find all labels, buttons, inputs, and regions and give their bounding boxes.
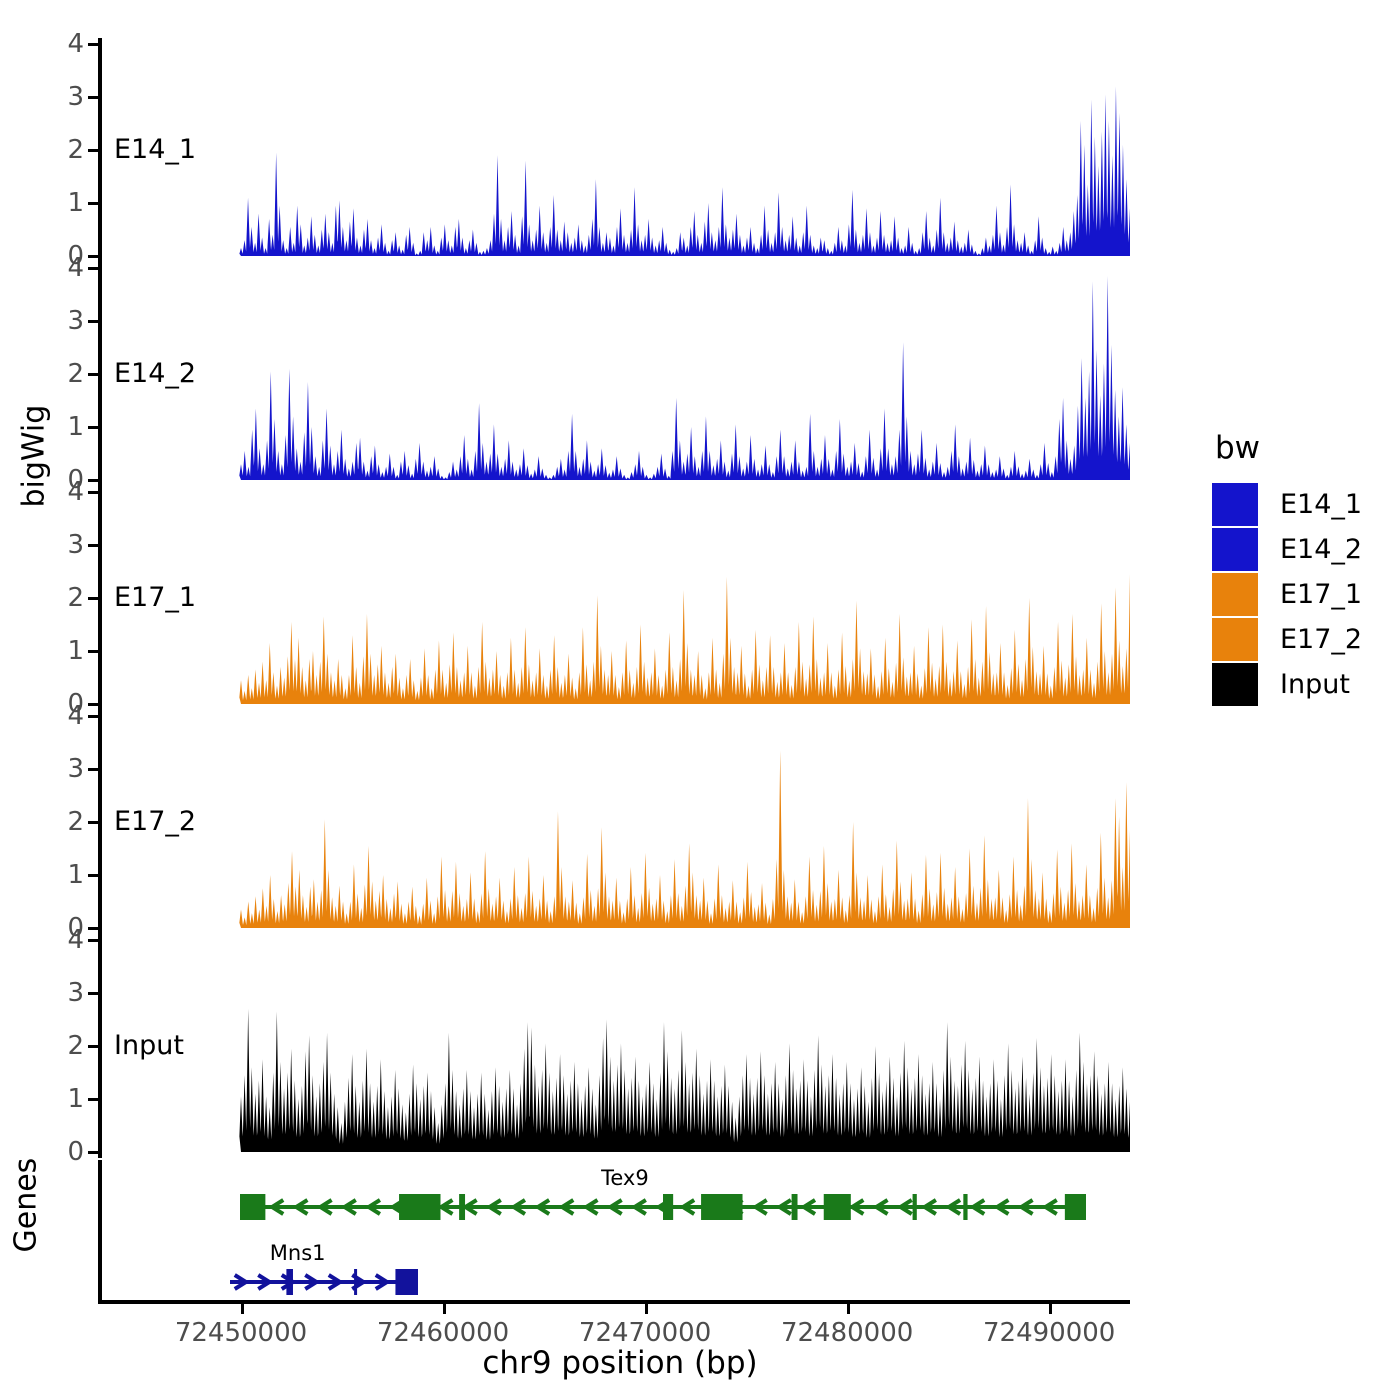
legend-label: Input: [1280, 669, 1350, 700]
gene-tex9[interactable]: [240, 1190, 1086, 1224]
y-tick: [88, 703, 98, 706]
legend-swatch: [1212, 663, 1258, 706]
y-tick-label: 3: [67, 978, 84, 1008]
track-panel-input: 01234Input: [98, 934, 1130, 1158]
legend: bw E14_1E14_2E17_1E17_2Input: [1212, 430, 1362, 707]
y-tick: [88, 267, 98, 270]
y-tick: [88, 1098, 98, 1101]
track-signal-e17_1: [102, 486, 1130, 710]
legend-item-e17_2[interactable]: E17_2: [1212, 617, 1362, 662]
y-tick: [88, 650, 98, 653]
y-tick-label: 1: [67, 860, 84, 890]
x-tick-label: 72460000: [377, 1318, 509, 1348]
gene-model-tex9: [240, 1190, 1086, 1224]
x-axis-line: [98, 1300, 1130, 1304]
x-tick: [1049, 1304, 1052, 1314]
track-plot-area: [102, 710, 1130, 934]
x-tick: [241, 1304, 244, 1314]
legend-swatch: [1212, 618, 1258, 661]
y-tick-label: 3: [67, 306, 84, 336]
x-tick-label: 72490000: [983, 1318, 1115, 1348]
y-tick-label: 2: [67, 807, 84, 837]
y-tick: [88, 1151, 98, 1154]
y-tick: [88, 597, 98, 600]
y-tick: [88, 43, 98, 46]
y-tick: [88, 821, 98, 824]
y-tick: [88, 874, 98, 877]
x-tick: [645, 1304, 648, 1314]
y-tick: [88, 479, 98, 482]
track-signal-e14_2: [102, 262, 1130, 486]
y-tick: [88, 149, 98, 152]
y-tick: [88, 255, 98, 258]
legend-item-input[interactable]: Input: [1212, 662, 1362, 707]
legend-title: bw: [1215, 430, 1362, 466]
x-tick: [443, 1304, 446, 1314]
legend-swatch: [1212, 573, 1258, 616]
legend-label: E17_1: [1280, 579, 1362, 610]
y-tick-label: 4: [67, 701, 84, 731]
legend-items: E14_1E14_2E17_1E17_2Input: [1212, 482, 1362, 707]
track-panel-e17_1: 01234E17_1: [98, 486, 1130, 710]
y-tick-label: 1: [67, 1084, 84, 1114]
x-tick-label: 72470000: [579, 1318, 711, 1348]
gene-model-mns1: [230, 1265, 418, 1299]
track-panel-e14_1: 01234E14_1: [98, 38, 1130, 262]
y-tick: [88, 202, 98, 205]
x-tick-label: 72450000: [175, 1318, 307, 1348]
track-plot-area: [102, 486, 1130, 710]
x-tick-label: 72480000: [781, 1318, 913, 1348]
legend-label: E14_2: [1280, 534, 1362, 565]
y-tick: [88, 96, 98, 99]
x-tick: [847, 1304, 850, 1314]
x-axis: 7245000072460000724700007248000072490000: [98, 1300, 1130, 1340]
y-tick-label: 3: [67, 754, 84, 784]
track-plot-area: [102, 262, 1130, 486]
legend-swatch: [1212, 483, 1258, 526]
y-tick: [88, 544, 98, 547]
track-plot-area: [102, 38, 1130, 262]
track-signal-e17_2: [102, 710, 1130, 934]
legend-label: E14_1: [1280, 489, 1362, 520]
y-tick-label: 2: [67, 1031, 84, 1061]
track-plot-area: [102, 934, 1130, 1158]
y-tick: [88, 373, 98, 376]
y-tick-label: 3: [67, 530, 84, 560]
legend-label: E17_2: [1280, 624, 1362, 655]
y-axis-title-bigwig: bigWig: [17, 468, 52, 508]
y-tick: [88, 1045, 98, 1048]
y-tick: [88, 426, 98, 429]
genes-axis-line: [98, 1160, 102, 1300]
y-tick-label: 1: [67, 188, 84, 218]
y-axis-title-genes: Genes: [9, 1213, 44, 1253]
y-tick-label: 1: [67, 412, 84, 442]
y-tick: [88, 715, 98, 718]
y-tick-label: 4: [67, 477, 84, 507]
y-tick-label: 4: [67, 253, 84, 283]
y-tick: [88, 768, 98, 771]
y-tick-label: 3: [67, 82, 84, 112]
legend-item-e14_2[interactable]: E14_2: [1212, 527, 1362, 572]
gene-label-mns1: Mns1: [270, 1241, 326, 1265]
y-tick: [88, 491, 98, 494]
genes-panel: Tex9Mns1: [98, 1160, 1130, 1300]
track-signal-input: [102, 934, 1130, 1158]
genome-browser-figure: bigWig Genes 01234E14_101234E14_201234E1…: [0, 0, 1400, 1400]
y-tick: [88, 927, 98, 930]
y-tick-label: 2: [67, 135, 84, 165]
track-panel-e14_2: 01234E14_2: [98, 262, 1130, 486]
track-panel-e17_2: 01234E17_2: [98, 710, 1130, 934]
legend-swatch: [1212, 528, 1258, 571]
y-tick-label: 2: [67, 583, 84, 613]
y-tick-label: 2: [67, 359, 84, 389]
gene-label-tex9: Tex9: [601, 1166, 649, 1190]
gene-mns1[interactable]: [230, 1265, 418, 1299]
y-tick-label: 1: [67, 636, 84, 666]
y-tick: [88, 939, 98, 942]
y-tick-label: 4: [67, 925, 84, 955]
legend-item-e14_1[interactable]: E14_1: [1212, 482, 1362, 527]
y-tick: [88, 320, 98, 323]
x-axis-title: chr9 position (bp): [110, 1345, 1130, 1381]
legend-item-e17_1[interactable]: E17_1: [1212, 572, 1362, 617]
track-signal-e14_1: [102, 38, 1130, 262]
y-tick: [88, 992, 98, 995]
y-tick-label: 0: [67, 1137, 84, 1167]
y-tick-label: 4: [67, 29, 84, 59]
